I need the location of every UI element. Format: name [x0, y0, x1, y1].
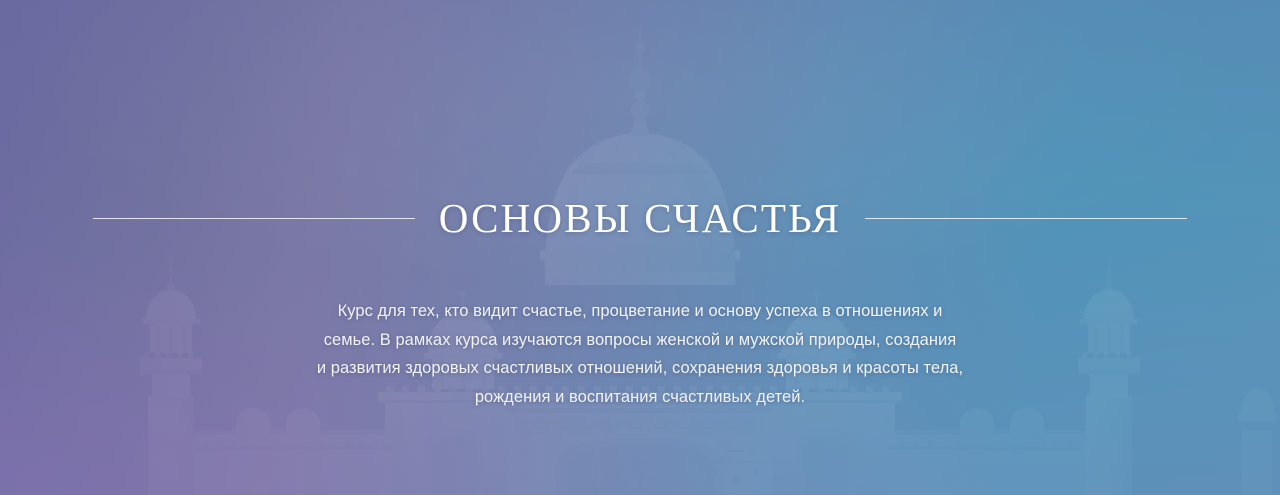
hero-banner: ОСНОВЫ СЧАСТЬЯ Курс для тех, кто видит с… — [0, 0, 1280, 495]
description-line: рождения и воспитания счастливых детей. — [290, 383, 990, 412]
title-row: ОСНОВЫ СЧАСТЬЯ — [0, 190, 1280, 246]
description-line: семье. В рамках курса изучаются вопросы … — [290, 326, 990, 355]
hero-description: Курс для тех, кто видит счастье, процвет… — [290, 297, 990, 411]
divider-rule-left — [93, 218, 415, 219]
description-line: Курс для тех, кто видит счастье, процвет… — [290, 297, 990, 326]
page-title: ОСНОВЫ СЧАСТЬЯ — [439, 198, 841, 239]
divider-rule-right — [865, 218, 1187, 219]
hero-content: ОСНОВЫ СЧАСТЬЯ Курс для тех, кто видит с… — [0, 0, 1280, 495]
description-line: и развития здоровых счастливых отношений… — [290, 354, 990, 383]
